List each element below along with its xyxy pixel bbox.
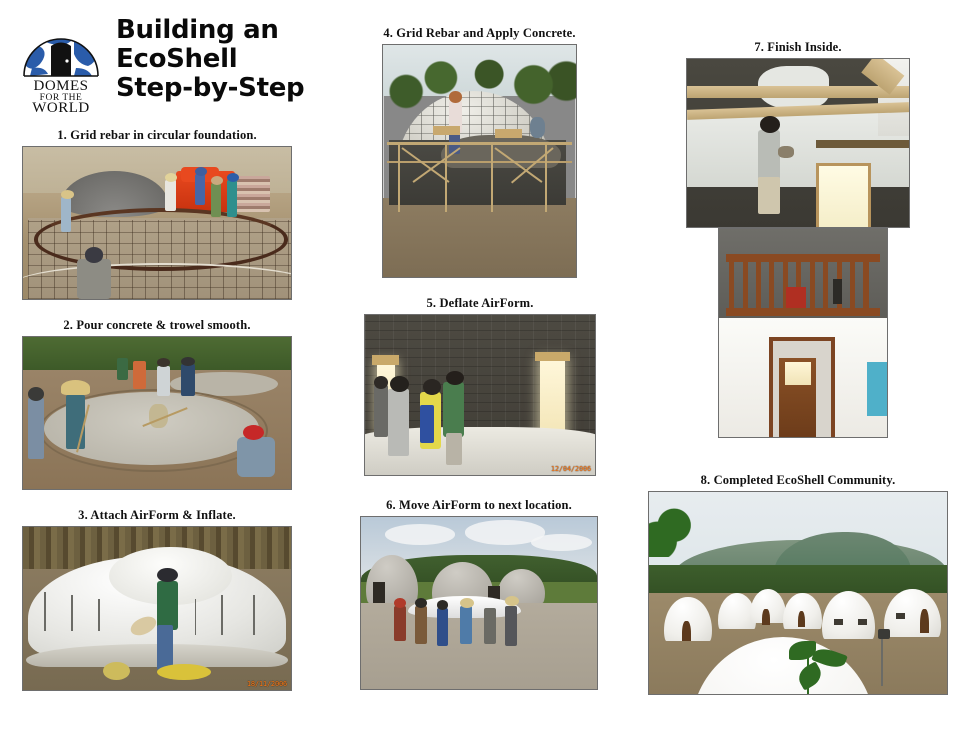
step-4: 4. Grid Rebar and Apply Concrete.	[382, 26, 577, 278]
title-line-2: EcoShell	[116, 45, 304, 74]
step-7-photo-plastering	[686, 58, 910, 228]
domes-for-the-world-logo: DOMES FOR THE WORLD	[18, 14, 104, 114]
step-3-photo: 18/11/2006	[22, 526, 292, 691]
step-8: 8. Completed EcoShell Community.	[648, 473, 948, 695]
step-2-photo	[22, 336, 292, 490]
step-8-caption: 8. Completed EcoShell Community.	[648, 473, 948, 488]
page-title: Building an EcoShell Step-by-Step	[116, 16, 304, 103]
poster-header: DOMES FOR THE WORLD Building an EcoShell…	[18, 10, 328, 125]
title-line-1: Building an	[116, 16, 304, 45]
step-7: 7. Finish Inside.	[686, 40, 910, 228]
step-7-second-photo	[718, 228, 888, 438]
step-6-photo	[360, 516, 598, 690]
step-1: 1. Grid rebar in circular foundation.	[22, 128, 292, 300]
step-1-caption: 1. Grid rebar in circular foundation.	[22, 128, 292, 143]
step-2-caption: 2. Pour concrete & trowel smooth.	[22, 318, 292, 333]
globe-dome-icon: DOMES FOR THE WORLD	[18, 14, 104, 114]
step-1-photo	[22, 146, 292, 300]
step-5: 5. Deflate AirForm. 12	[364, 296, 596, 476]
logo-line-3: WORLD	[32, 100, 90, 114]
step-4-caption: 4. Grid Rebar and Apply Concrete.	[382, 26, 577, 41]
logo-line-1: DOMES	[33, 78, 88, 94]
step-5-timestamp: 12/04/2006	[551, 465, 591, 473]
step-3: 3. Attach AirForm & Inflate.	[22, 508, 292, 691]
step-4-photo	[382, 44, 577, 278]
step-3-caption: 3. Attach AirForm & Inflate.	[22, 508, 292, 523]
step-3-timestamp: 18/11/2006	[247, 680, 287, 688]
title-line-3: Step-by-Step	[116, 74, 304, 103]
step-2: 2. Pour concrete & trowel smooth.	[22, 318, 292, 490]
step-6: 6. Move AirForm to next location.	[360, 498, 598, 690]
step-8-photo	[648, 491, 948, 695]
step-5-caption: 5. Deflate AirForm.	[364, 296, 596, 311]
step-7-caption: 7. Finish Inside.	[686, 40, 910, 55]
step-6-caption: 6. Move AirForm to next location.	[360, 498, 598, 513]
step-5-photo: 12/04/2006	[364, 314, 596, 476]
poster-page: DOMES FOR THE WORLD Building an EcoShell…	[0, 0, 960, 742]
step-7-photo-interior	[718, 228, 888, 438]
